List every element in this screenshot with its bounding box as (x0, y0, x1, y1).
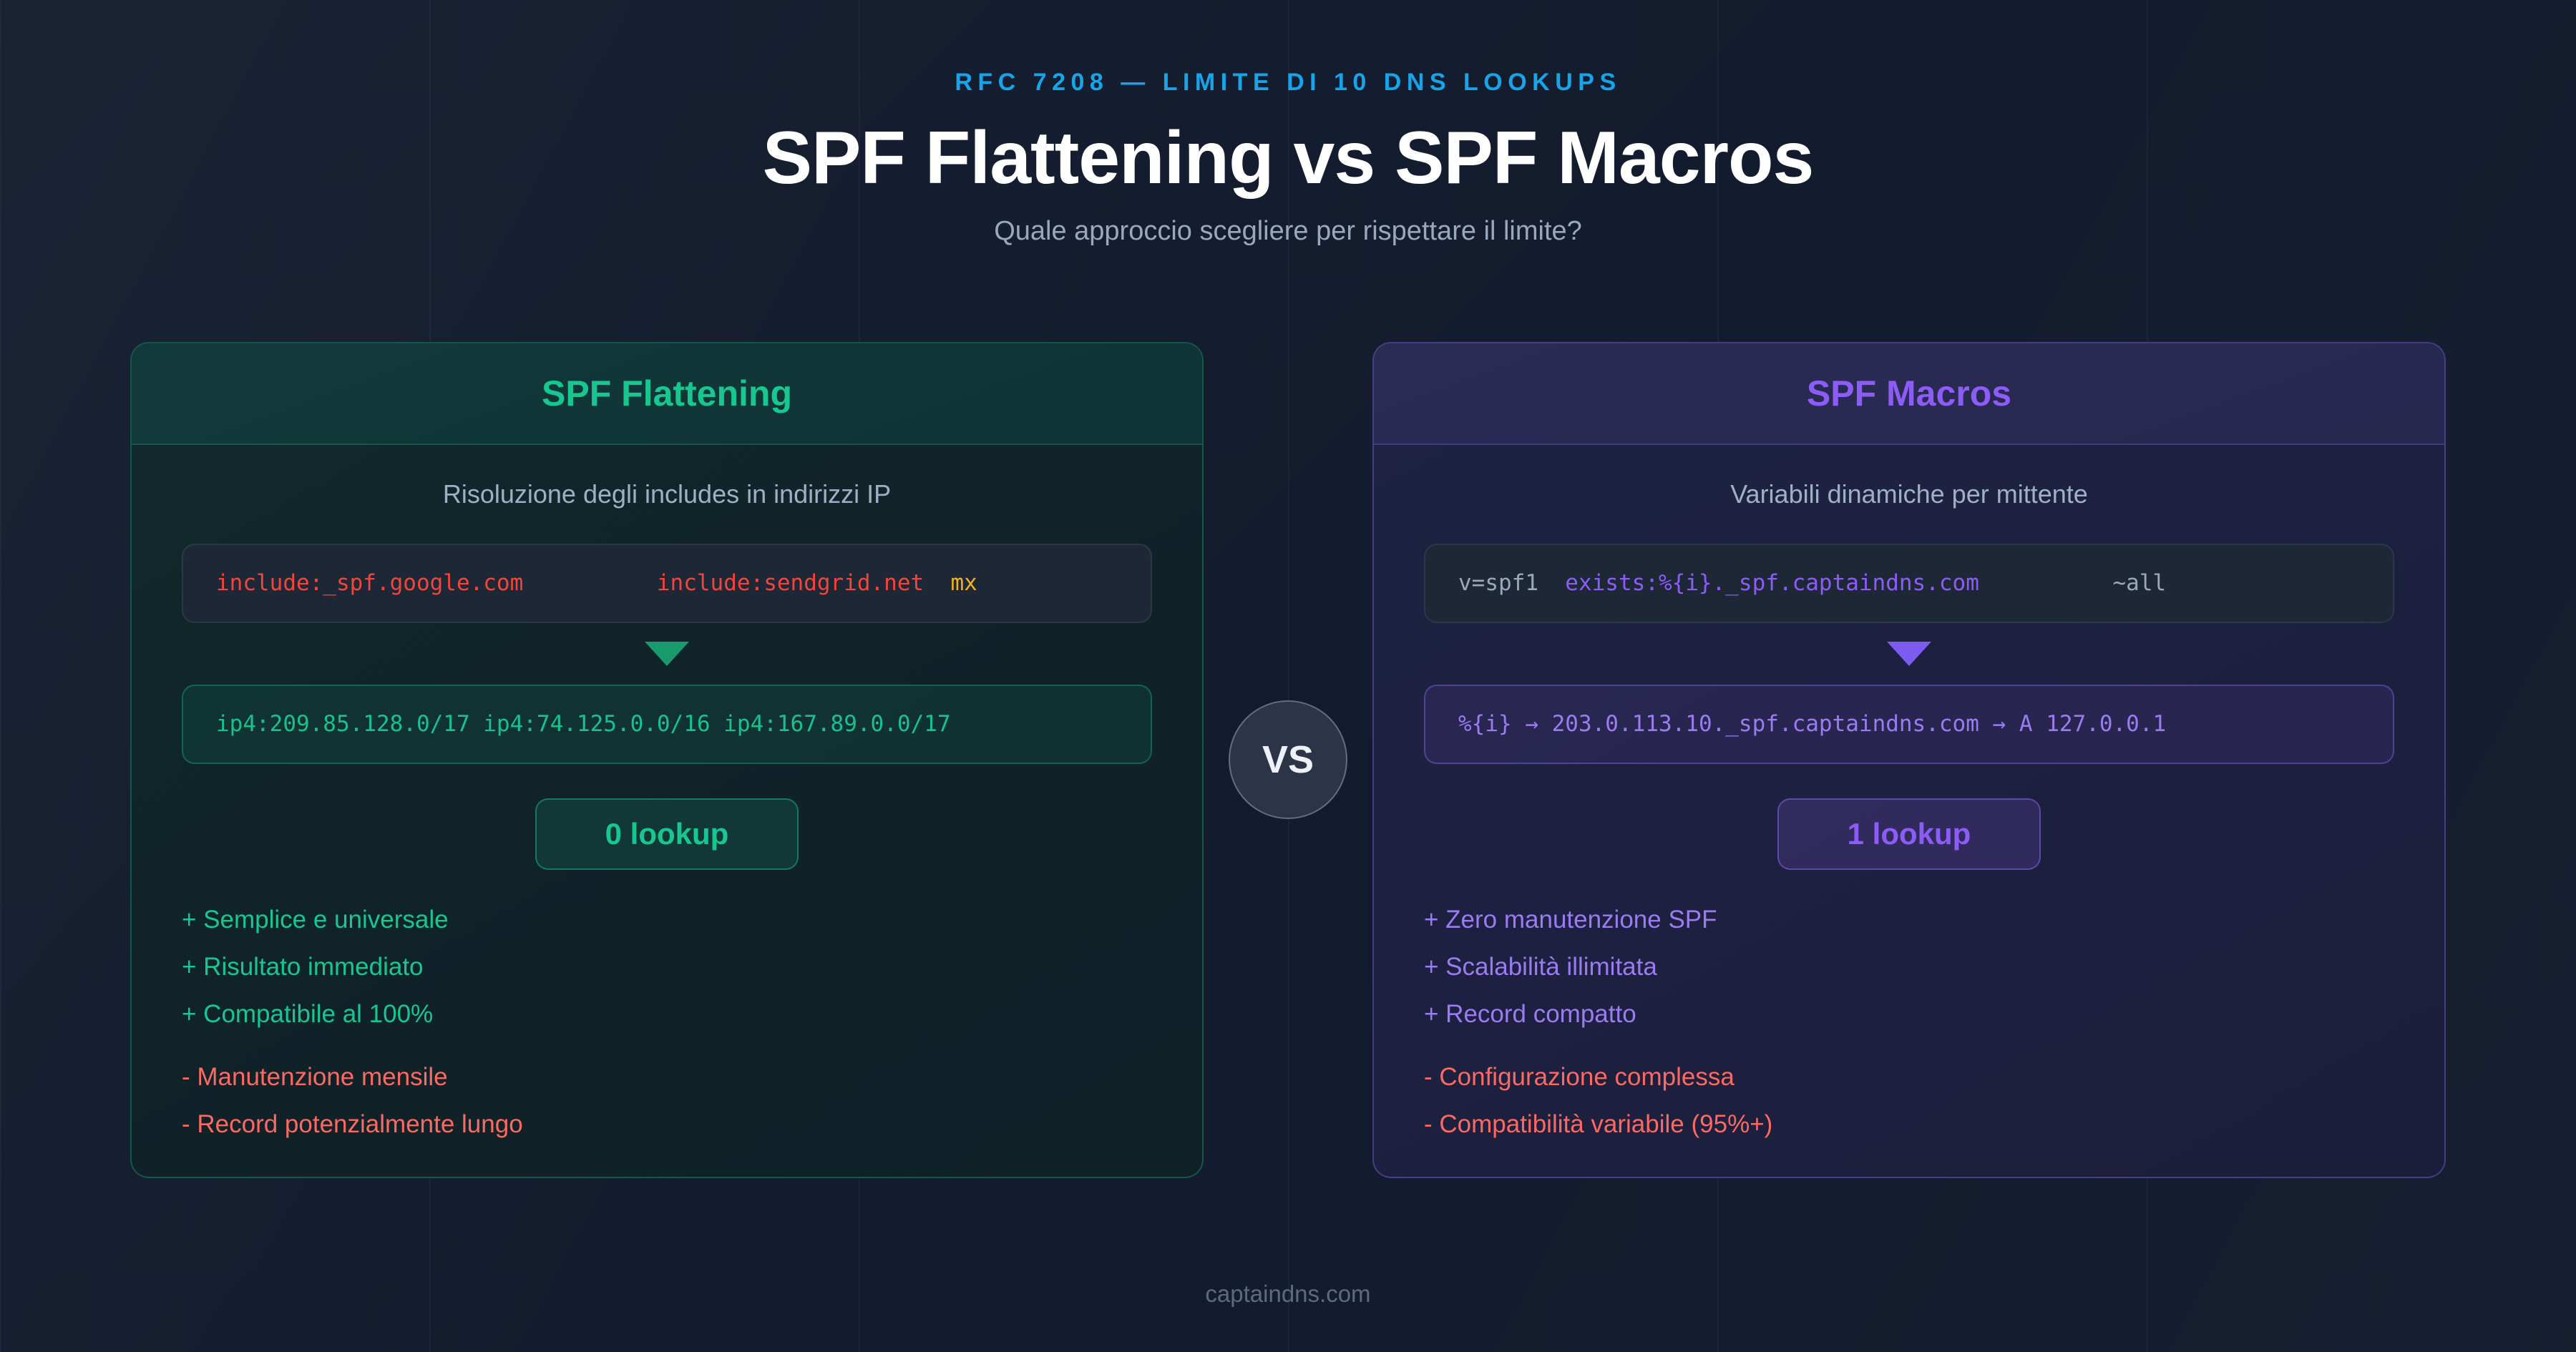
page-header: RFC 7208 — LIMITE DI 10 DNS LOOKUPS SPF … (0, 69, 2576, 247)
card-header-macros: SPF Macros (1374, 343, 2444, 445)
pro-item: + Compatibile al 100% (182, 1001, 1152, 1027)
con-item: - Compatibilità variabile (95%+) (1424, 1112, 2394, 1137)
card-subtitle-macros: Variabili dinamiche per mittente (1424, 479, 2394, 509)
code-token-all: ~all (2113, 570, 2167, 596)
card-title-macros: SPF Macros (1807, 373, 2011, 414)
pros-list-macros: + Zero manutenzione SPF + Scalabilità il… (1424, 907, 2394, 1027)
arrow-down-icon-flattening (645, 642, 689, 666)
card-subtitle-flattening: Risoluzione degli includes in indirizzi … (182, 479, 1152, 509)
lookup-badge-wrap-macros: 1 lookup (1424, 798, 2394, 870)
infographic-stage: RFC 7208 — LIMITE DI 10 DNS LOOKUPS SPF … (0, 0, 2576, 1352)
pro-item: + Record compatto (1424, 1001, 2394, 1027)
footer-brand: captaindns.com (0, 1280, 2576, 1308)
pro-item: + Scalabilità illimitata (1424, 954, 2394, 979)
pros-list-flattening: + Semplice e universale + Risultato imme… (182, 907, 1152, 1027)
con-item: - Record potenzialmente lungo (182, 1112, 1152, 1137)
cons-list-macros: - Configurazione complessa - Compatibili… (1424, 1064, 2394, 1137)
arrow-down-icon-macros (1887, 642, 1931, 666)
code-block-output-macros: %{i} → 203.0.113.10._spf.captaindns.com … (1424, 685, 2394, 764)
card-body-flattening: Risoluzione degli includes in indirizzi … (132, 445, 1202, 1177)
card-header-flattening: SPF Flattening (132, 343, 1202, 445)
card-spf-macros: SPF Macros Variabili dinamiche per mitte… (1372, 342, 2446, 1178)
pro-item: + Risultato immediato (182, 954, 1152, 979)
lookup-badge-macros: 1 lookup (1777, 798, 2041, 870)
pros-cons-flattening: + Semplice e universale + Risultato imme… (182, 907, 1152, 1177)
code-token-exists: exists:%{i}._spf.captaindns.com (1565, 570, 1979, 596)
kicker-text: RFC 7208 — LIMITE DI 10 DNS LOOKUPS (0, 69, 2576, 97)
lookup-badge-flattening: 0 lookup (535, 798, 799, 870)
card-title-flattening: SPF Flattening (542, 373, 792, 414)
con-item: - Configurazione complessa (1424, 1064, 2394, 1089)
code-token-include-sendgrid: include:sendgrid.net (657, 570, 924, 596)
con-item: - Manutenzione mensile (182, 1064, 1152, 1089)
code-block-input-flattening: include:_spf.google.cominclude:sendgrid.… (182, 544, 1152, 623)
code-block-input-macros: v=spf1exists:%{i}._spf.captaindns.com~al… (1424, 544, 2394, 623)
code-token-include-google: include:_spf.google.com (216, 570, 523, 596)
card-spf-flattening: SPF Flattening Risoluzione degli include… (130, 342, 1204, 1178)
code-block-output-flattening: ip4:209.85.128.0/17 ip4:74.125.0.0/16 ip… (182, 685, 1152, 764)
pro-item: + Zero manutenzione SPF (1424, 907, 2394, 932)
pros-cons-macros: + Zero manutenzione SPF + Scalabilità il… (1424, 907, 2394, 1177)
code-token-mx: mx (950, 570, 977, 596)
pro-item: + Semplice e universale (182, 907, 1152, 932)
vs-badge: VS (1229, 700, 1347, 819)
code-token-vspf1: v=spf1 (1458, 570, 1538, 596)
page-title: SPF Flattening vs SPF Macros (0, 119, 2576, 197)
card-body-macros: Variabili dinamiche per mittente v=spf1e… (1374, 445, 2444, 1177)
cons-list-flattening: - Manutenzione mensile - Record potenzia… (182, 1064, 1152, 1137)
page-subtitle: Quale approccio scegliere per rispettare… (0, 216, 2576, 247)
lookup-badge-wrap-flattening: 0 lookup (182, 798, 1152, 870)
